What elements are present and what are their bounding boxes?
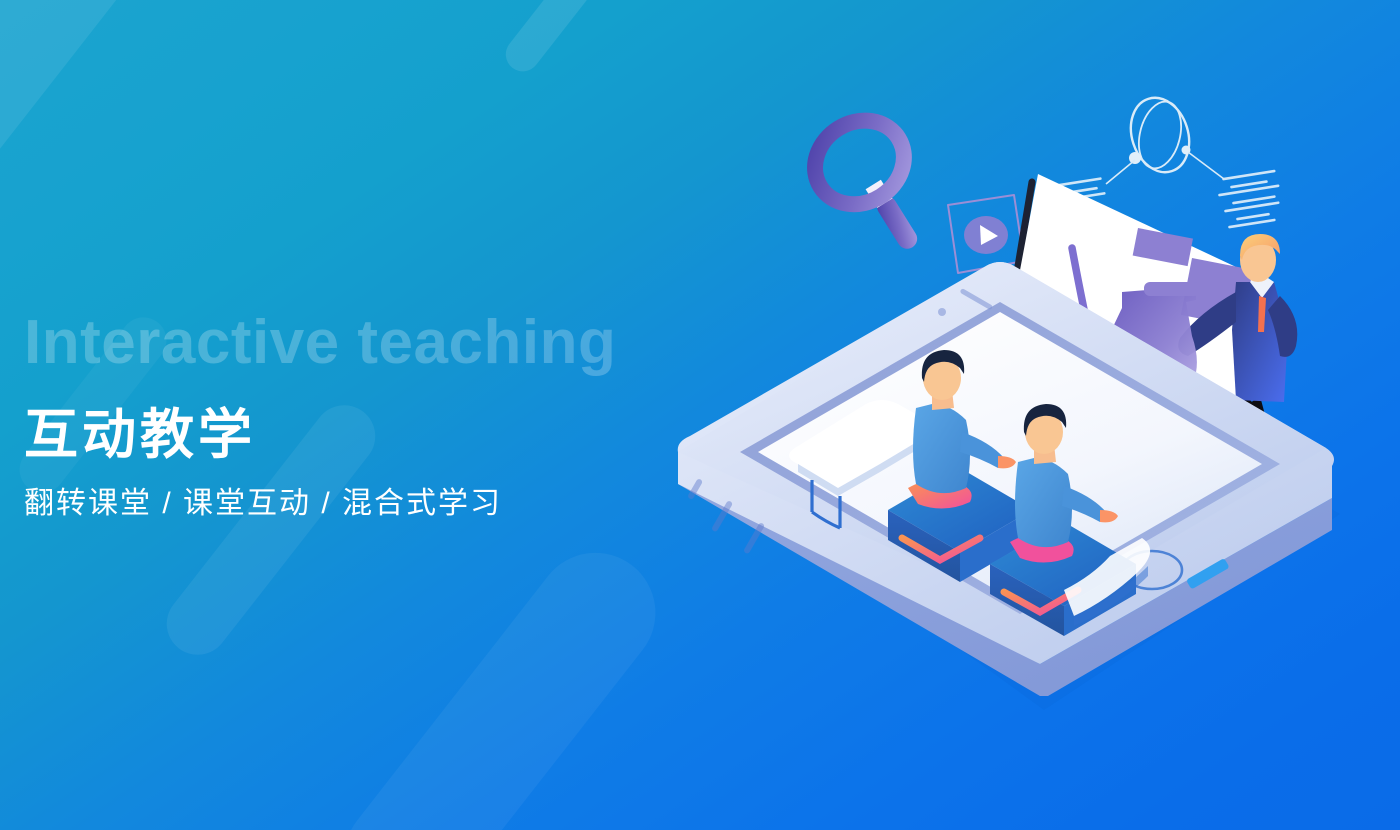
banner-eyebrow-english: Interactive teaching xyxy=(24,312,784,374)
video-play-icon xyxy=(948,195,1024,273)
interactive-teaching-banner: Interactive teaching 互动教学 翻转课堂 / 课堂互动 / … xyxy=(0,0,1400,830)
decorative-diagonal-bar-small xyxy=(499,0,655,78)
banner-title: 互动教学 xyxy=(24,406,784,464)
banner-subtitle: 翻转课堂 / 课堂互动 / 混合式学习 xyxy=(24,486,784,522)
magnifier-icon xyxy=(799,104,951,271)
banner-text-block: Interactive teaching 互动教学 翻转课堂 / 课堂互动 / … xyxy=(24,312,784,522)
decorative-diagonal-bar-lower xyxy=(320,529,679,830)
